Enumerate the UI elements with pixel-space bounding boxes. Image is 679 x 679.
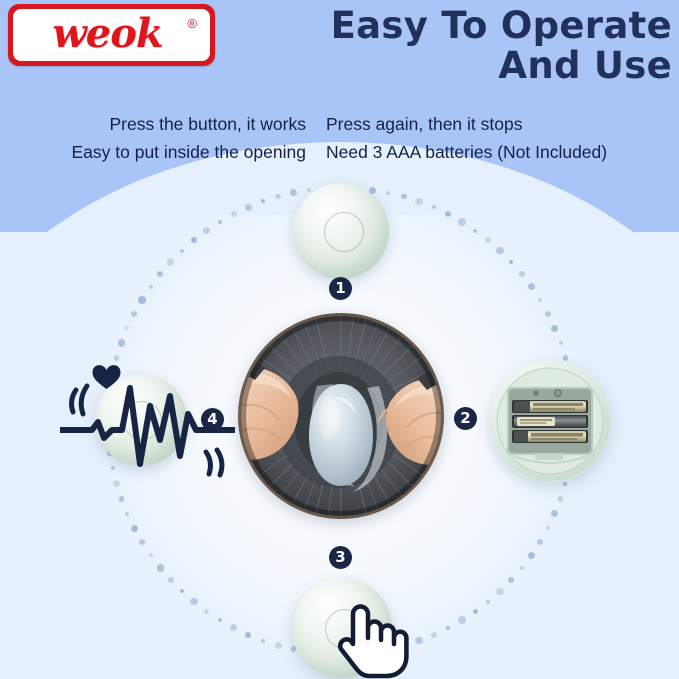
ring-dot (261, 199, 265, 203)
ring-dot (275, 642, 282, 649)
ring-dot (125, 512, 129, 516)
ring-dot (473, 229, 477, 233)
brand-logo: weok ® (8, 4, 215, 66)
ring-dot (218, 618, 222, 622)
ring-dot (139, 539, 145, 545)
ring-dot (431, 632, 437, 638)
brand-trademark-symbol: ® (187, 16, 197, 31)
ring-dot (458, 218, 465, 225)
ring-dot (157, 564, 164, 571)
step-badge-4: 4 (201, 408, 224, 431)
brand-logo-text: weok (52, 14, 162, 54)
ring-dot (118, 339, 125, 346)
ring-dot (275, 194, 281, 200)
ring-dot (473, 609, 479, 615)
ring-dot (508, 577, 514, 583)
ring-dot (203, 227, 210, 234)
ring-dot (545, 311, 551, 317)
ring-dot (496, 588, 503, 595)
ring-dot (131, 525, 138, 532)
ring-dot (149, 553, 153, 557)
ring-dot (528, 283, 535, 290)
ring-dot (401, 194, 407, 200)
step-badge-1: 1 (329, 277, 352, 300)
brand-logo-inner: weok ® (13, 9, 210, 61)
ring-dot (496, 247, 503, 254)
ring-dot (204, 609, 210, 615)
ring-dot (290, 189, 297, 196)
ring-dot (509, 260, 513, 264)
ring-dot (230, 624, 237, 631)
product-ball-top (293, 183, 389, 279)
ball-press-button-top[interactable] (324, 212, 364, 252)
ring-dot (528, 552, 535, 559)
ring-dot (245, 204, 252, 211)
ring-dot (432, 205, 436, 209)
ring-dot (446, 626, 450, 630)
feature-right-1: Press again, then it stops (306, 110, 679, 138)
ring-dot (138, 296, 145, 303)
ring-dot (458, 616, 465, 623)
ring-dot (559, 341, 563, 345)
step-badge-3: 3 (329, 546, 352, 569)
hands-inserting-ball-photo (238, 313, 444, 519)
ring-dot (415, 198, 422, 205)
ring-dot (546, 526, 550, 530)
ring-dot (131, 311, 137, 317)
ring-dot (125, 326, 129, 330)
hand-pointer-icon (332, 598, 412, 679)
feature-row-2: Easy to put inside the opening Need 3 AA… (0, 138, 679, 166)
feature-left-1: Press the button, it works (0, 110, 306, 138)
ring-dot (180, 249, 184, 253)
ring-dot (537, 539, 543, 545)
ring-dot (119, 496, 125, 502)
ring-dot (245, 632, 251, 638)
battery-compartment (489, 360, 611, 482)
ring-dot (218, 220, 222, 224)
feature-right-2: Need 3 AAA batteries (Not Included) (306, 138, 679, 166)
ring-dot (445, 211, 451, 217)
ring-dot (180, 589, 184, 593)
ring-dot (486, 600, 490, 604)
feature-text-block: Press the button, it works Press again, … (0, 110, 679, 167)
ring-dot (485, 237, 491, 243)
ring-dot (191, 237, 197, 243)
ring-dot (415, 637, 422, 644)
ring-dot (520, 566, 524, 570)
page-title-line-1: Easy To Operate (300, 6, 672, 46)
ring-dot (307, 188, 311, 192)
ring-dot (168, 577, 174, 583)
infographic-canvas: weok ® Easy To Operate And Use Press the… (0, 0, 679, 679)
ring-dot (231, 211, 237, 217)
ring-dot (551, 325, 558, 332)
heart-icon (93, 365, 121, 389)
ring-dot (519, 271, 525, 277)
ring-dot (167, 258, 174, 265)
ring-dot (157, 271, 163, 277)
ring-dot (538, 298, 542, 302)
step-badge-2: 2 (454, 407, 477, 430)
page-title-line-2: And Use (300, 46, 672, 86)
ring-dot (551, 510, 558, 517)
ring-dot (261, 639, 265, 643)
ring-dot (386, 191, 390, 195)
ring-dot (190, 598, 197, 605)
feature-left-2: Easy to put inside the opening (0, 138, 306, 166)
page-title: Easy To Operate And Use (300, 6, 672, 86)
ring-dot (558, 496, 564, 502)
ring-dot (563, 355, 569, 361)
feature-row-1: Press the button, it works Press again, … (0, 110, 679, 138)
ring-dot (563, 482, 567, 486)
ring-dot (149, 285, 153, 289)
